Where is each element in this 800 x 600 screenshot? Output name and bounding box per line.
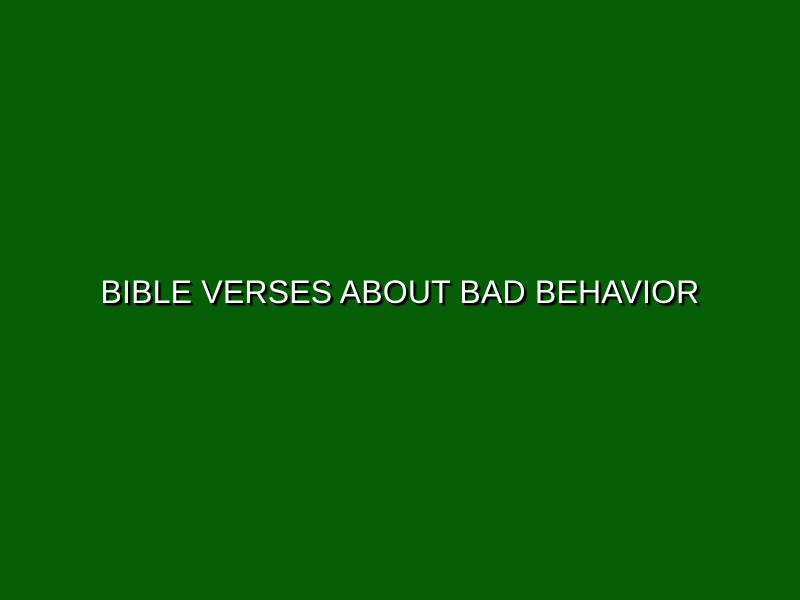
title-banner: BIBLE VERSES ABOUT BAD BEHAVIOR [0,0,800,600]
page-title: BIBLE VERSES ABOUT BAD BEHAVIOR [101,275,700,310]
banner-title-block: BIBLE VERSES ABOUT BAD BEHAVIOR [0,275,800,310]
